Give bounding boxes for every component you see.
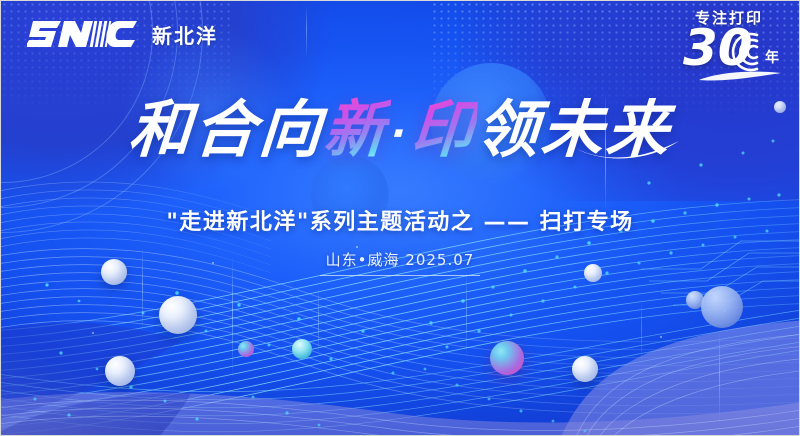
dateline-block: 山东•威海 2025.07 [1, 249, 799, 276]
anniversary-badge: 专注打印 30 年 [675, 11, 783, 81]
snbc-chinese-name: 新北洋 [152, 20, 218, 49]
event-subtitle: "走进新北洋"系列主题活动之 —— 扫打专场 [1, 204, 799, 236]
sphere-cyan-small [292, 339, 312, 359]
location-and-date: 山东•威海 2025.07 [320, 249, 481, 276]
snbc-logo[interactable]: 新北洋 [27, 17, 218, 51]
anniversary-year-unit: 年 [765, 51, 779, 65]
anniversary-sweep-icon [697, 69, 783, 83]
sphere-white-mid-left [159, 296, 197, 334]
sphere-white-lower-left [105, 356, 135, 386]
brush-stroke-flourish-icon [571, 139, 681, 165]
sphere-pink-small [238, 341, 254, 357]
sphere-white-bottom-center [572, 356, 598, 382]
title-segment-1: 和合 [126, 93, 261, 166]
event-poster-banner: 新北洋 专注打印 30 年 和合向新·印领未来 "走进新北洋"系列主题活动之 —… [0, 0, 800, 436]
title-segment-3: 新 [321, 93, 391, 166]
anniversary-number-group: 30 年 [675, 29, 783, 81]
swirl-rings-icon [727, 31, 767, 73]
title-segment-4: 印 [409, 93, 479, 166]
sphere-pink-large [490, 341, 524, 375]
snbc-wordmark-icon [27, 17, 139, 51]
sphere-blue-large [701, 286, 743, 328]
title-segment-2: 向 [256, 93, 326, 166]
